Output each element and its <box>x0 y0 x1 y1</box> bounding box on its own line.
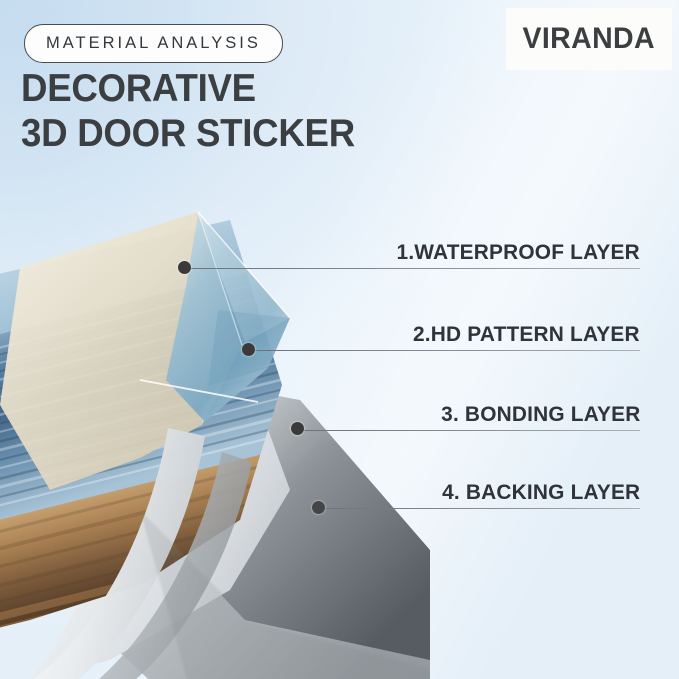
page-title: DECORATIVE 3D DOOR STICKER <box>21 66 355 156</box>
infographic-canvas: MATERIAL ANALYSIS DECORATIVE 3D DOOR STI… <box>0 0 679 679</box>
brand-logo: VIRANDA <box>506 8 672 70</box>
material-analysis-badge: MATERIAL ANALYSIS <box>24 24 283 63</box>
leader-line-2 <box>254 350 640 351</box>
layer-label-1-text: 1.WATERPROOF LAYER <box>397 240 640 265</box>
layer-label-3-text: 3. BONDING LAYER <box>441 402 640 427</box>
leader-line-4 <box>324 508 640 509</box>
layer-label-3: 3. BONDING LAYER <box>435 402 641 427</box>
layer-label-4-text: 4. BACKING LAYER <box>442 480 640 505</box>
layer-dot-4 <box>312 501 325 514</box>
title-line-1: DECORATIVE <box>21 67 256 110</box>
sticker-artwork <box>0 190 430 679</box>
leader-line-1 <box>190 268 640 269</box>
title-line-2: 3D DOOR STICKER <box>21 111 355 156</box>
brand-logo-text: VIRANDA <box>523 22 656 56</box>
layer-label-4: 4. BACKING LAYER <box>436 480 640 505</box>
layer-label-2-text: 2.HD PATTERN LAYER <box>413 322 640 347</box>
layer-label-2: 2.HD PATTERN LAYER <box>406 322 640 347</box>
layer-dot-2 <box>242 343 255 356</box>
badge-label: MATERIAL ANALYSIS <box>46 34 261 53</box>
leader-line-3 <box>303 430 640 431</box>
layer-dot-1 <box>178 261 191 274</box>
layer-label-1: 1.WATERPROOF LAYER <box>389 240 640 265</box>
layer-dot-3 <box>291 422 304 435</box>
